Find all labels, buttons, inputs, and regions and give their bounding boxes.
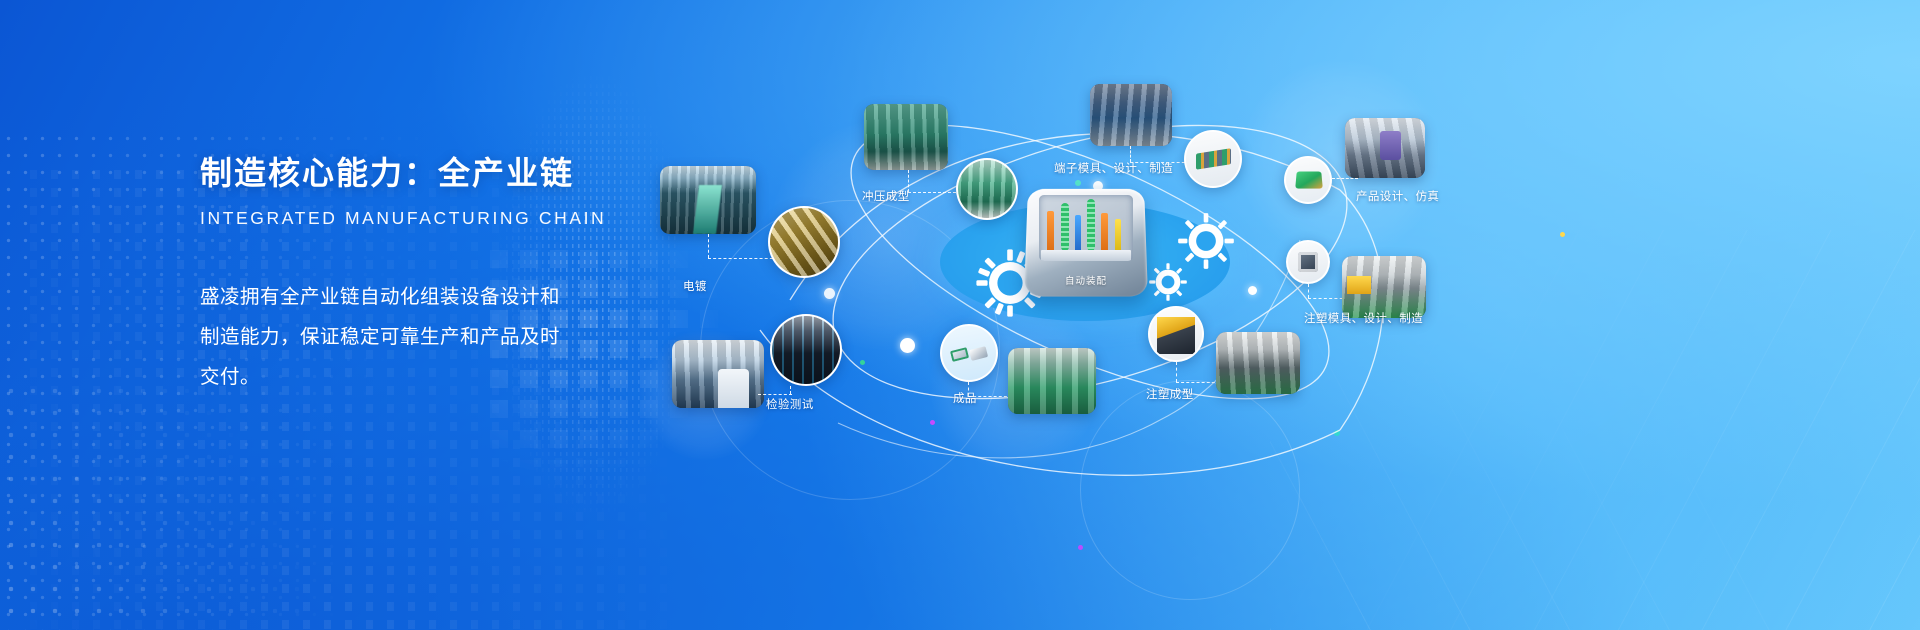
banner-copy-block: 制造核心能力：全产业链 INTEGRATED MANUFACTURING CHA… <box>200 148 620 397</box>
page-subtitle: INTEGRATED MANUFACTURING CHAIN <box>200 208 620 229</box>
node-caption-product-design: 产品设计、仿真 <box>1356 188 1439 204</box>
stamping-thumbnail <box>864 104 948 170</box>
connector-line <box>1308 284 1309 298</box>
product-design-bubble <box>1284 156 1332 204</box>
process-chain-diagram: 自动装配 电镀 冲压成型 <box>640 0 1920 630</box>
mold-coil <box>1087 199 1095 251</box>
mold-plate <box>1041 250 1131 261</box>
orbit-node-dot <box>1248 286 1257 295</box>
mold-coil <box>1061 203 1069 251</box>
stamping-bubble <box>956 158 1018 220</box>
connector-line <box>708 258 778 259</box>
finished-product-bubble <box>940 324 998 382</box>
connector-line <box>708 234 709 258</box>
connector-line <box>790 386 791 394</box>
finished-product-thumbnail <box>1008 348 1096 414</box>
terminal-mold-thumbnail <box>1090 84 1172 146</box>
mold-pin <box>1075 215 1081 255</box>
gear-icon <box>1148 262 1188 302</box>
page-title: 制造核心能力：全产业链 <box>200 148 620 194</box>
manufacturing-chain-banner: 制造核心能力：全产业链 INTEGRATED MANUFACTURING CHA… <box>0 0 1920 630</box>
inspection-thumbnail <box>672 340 764 408</box>
injection-mold-thumbnail <box>1342 256 1426 318</box>
node-caption-injection-forming: 注塑成型 <box>1146 386 1194 402</box>
connector-line <box>758 394 792 395</box>
plating-bubble <box>768 206 840 278</box>
device-cavity <box>1039 195 1133 261</box>
injection-mold-bubble <box>1286 240 1330 284</box>
orbit-node-dot <box>900 338 915 353</box>
node-caption-finished-product: 成品 <box>953 390 977 406</box>
banner-description: 盛凌拥有全产业链自动化组装设备设计和制造能力，保证稳定可靠生产和产品及时交付。 <box>200 277 570 397</box>
inspection-bubble <box>770 314 842 386</box>
node-caption-inspection-test: 检验测试 <box>766 396 814 412</box>
connector-line <box>1176 362 1177 382</box>
hub-label: 自动装配 <box>1026 273 1146 287</box>
node-caption-plating: 电镀 <box>683 278 707 294</box>
terminal-mold-bubble <box>1184 130 1242 188</box>
node-caption-injection-mold: 注塑模具、设计、制造 <box>1304 310 1423 326</box>
node-caption-stamping: 冲压成型 <box>862 188 910 204</box>
mold-pin <box>1047 211 1054 255</box>
injection-forming-bubble <box>1148 306 1204 362</box>
plating-thumbnail <box>660 166 756 234</box>
automatic-assembly-device: 自动装配 <box>1026 186 1146 296</box>
orbit-lines <box>640 0 1920 630</box>
orbit-node-dot <box>824 288 835 299</box>
connector-line <box>1332 178 1358 179</box>
product-design-thumbnail <box>1345 118 1425 178</box>
mold-pin <box>1101 213 1108 255</box>
node-caption-terminal-mold: 端子模具、设计、制造 <box>1054 160 1173 176</box>
connector-line <box>1176 382 1220 383</box>
halftone-dots-background-2 <box>0 380 300 630</box>
injection-forming-thumbnail <box>1216 332 1300 394</box>
